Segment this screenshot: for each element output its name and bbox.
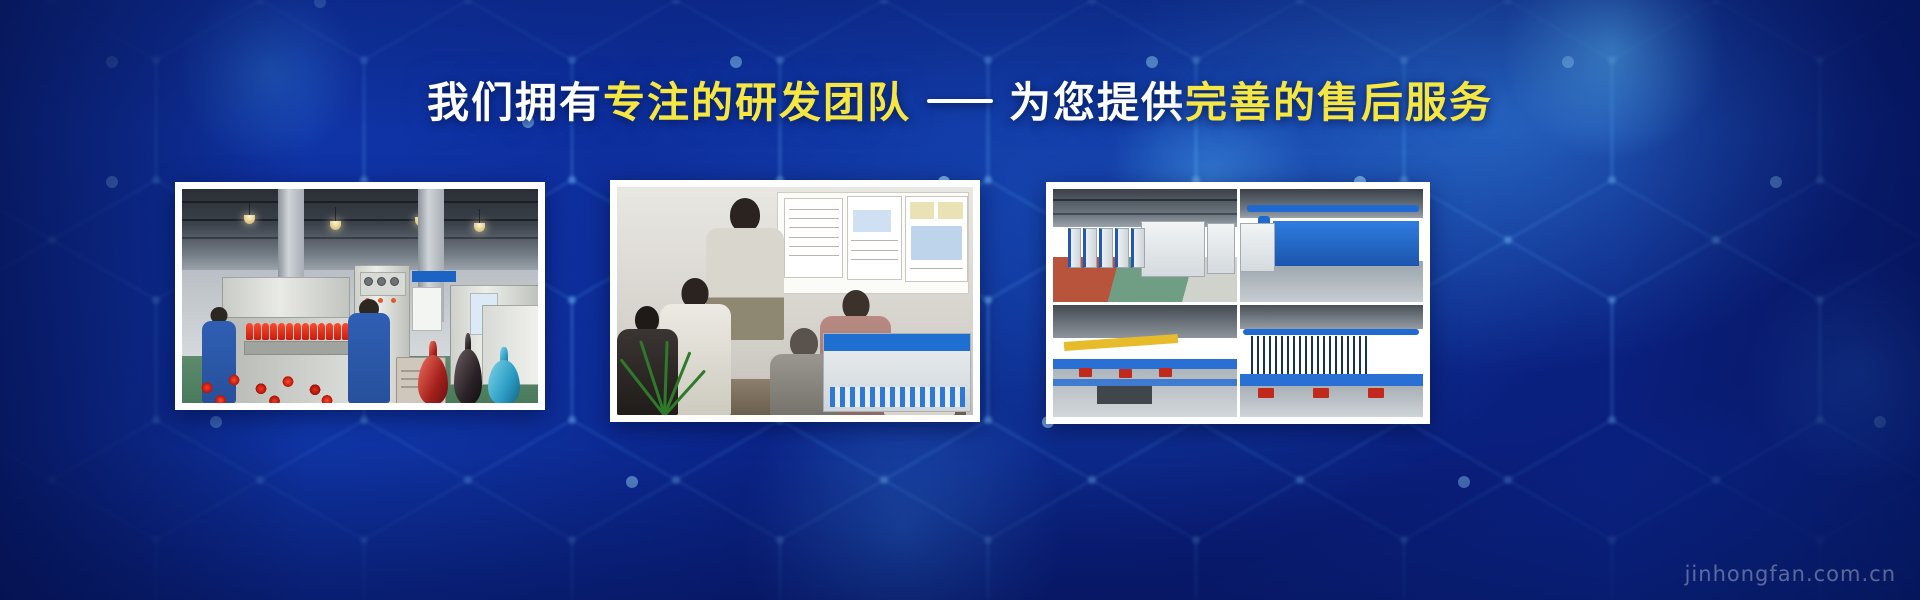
red-products-pile bbox=[189, 352, 339, 403]
hanging-fixture-row bbox=[1251, 336, 1412, 374]
banner-headline: 我们拥有专注的研发团队为您提供完善的售后服务 bbox=[0, 82, 1920, 124]
headline-part-1: 我们拥有 bbox=[427, 79, 603, 126]
cabinet-document-sheet bbox=[412, 287, 442, 331]
poster-text-left bbox=[784, 198, 843, 278]
poster-diagram-mid bbox=[847, 196, 902, 280]
red-workpiece bbox=[1079, 368, 1092, 377]
promo-banner: 我们拥有专注的研发团队为您提供完善的售后服务 bbox=[0, 0, 1920, 600]
product-vase-dark bbox=[454, 333, 482, 403]
headline-part-3: 为您提供 bbox=[1009, 79, 1185, 126]
workshop-roof bbox=[1053, 305, 1237, 339]
cabinet-knob bbox=[377, 277, 386, 286]
equipment-label-sign bbox=[412, 271, 456, 282]
red-product-row bbox=[246, 323, 357, 340]
collage-cell-blue-pipeline bbox=[1240, 189, 1424, 302]
red-workpiece bbox=[1368, 388, 1384, 398]
workshop-collage-photo bbox=[1053, 189, 1423, 417]
equipment-roller-row bbox=[830, 387, 964, 407]
transfer-cart bbox=[1097, 386, 1152, 404]
worker-right bbox=[348, 299, 390, 403]
oven-door-row bbox=[1068, 230, 1145, 268]
photo-panel-team-meeting[interactable] bbox=[610, 180, 980, 422]
roof-truss bbox=[182, 237, 538, 239]
line-conveyor bbox=[1240, 374, 1424, 386]
red-workpiece bbox=[1313, 388, 1329, 398]
workshop-roof bbox=[1240, 305, 1424, 330]
cabinet-knob bbox=[364, 277, 373, 286]
headline-part-4-accent: 完善的售后服务 bbox=[1185, 79, 1493, 126]
red-workpiece bbox=[1119, 369, 1132, 378]
roof-truss bbox=[182, 219, 538, 221]
photo-panel-production-line[interactable] bbox=[175, 182, 545, 410]
production-line-photo bbox=[182, 189, 538, 403]
meeting-discussion-photo bbox=[617, 187, 973, 415]
site-watermark: jinhongfan.com.cn bbox=[1685, 562, 1896, 586]
collage-cell-oven-hall bbox=[1053, 189, 1237, 302]
product-vase-blue bbox=[488, 347, 520, 403]
collage-cell-hanging-line bbox=[1240, 305, 1424, 418]
headline-divider-dash bbox=[927, 99, 993, 103]
blue-tunnel-oven bbox=[1273, 221, 1420, 266]
cabinet-knob bbox=[390, 277, 399, 286]
cabinet-indicator-light bbox=[391, 298, 396, 303]
workshop-roof bbox=[1240, 189, 1424, 218]
side-equipment bbox=[1207, 223, 1235, 275]
overhead-blue-pipe bbox=[1247, 205, 1419, 212]
person-head bbox=[730, 198, 760, 232]
potted-plant bbox=[621, 337, 714, 415]
headline-part-2-accent: 专注的研发团队 bbox=[603, 79, 911, 126]
poster-machine-photo bbox=[905, 196, 968, 282]
roof-truss bbox=[182, 201, 538, 203]
equipment-top-bar bbox=[824, 334, 970, 351]
photo-panel-workshop-collage[interactable] bbox=[1046, 182, 1430, 424]
red-workpiece bbox=[1159, 368, 1172, 377]
oven-unit bbox=[1141, 221, 1205, 277]
white-equipment bbox=[1240, 223, 1275, 272]
equipment-model bbox=[823, 333, 971, 413]
collage-cell-conveyor bbox=[1053, 305, 1237, 418]
worker-uniform bbox=[348, 313, 390, 403]
red-workpiece bbox=[1258, 388, 1274, 398]
product-vase-red bbox=[418, 341, 448, 403]
overhead-track bbox=[1243, 329, 1419, 335]
